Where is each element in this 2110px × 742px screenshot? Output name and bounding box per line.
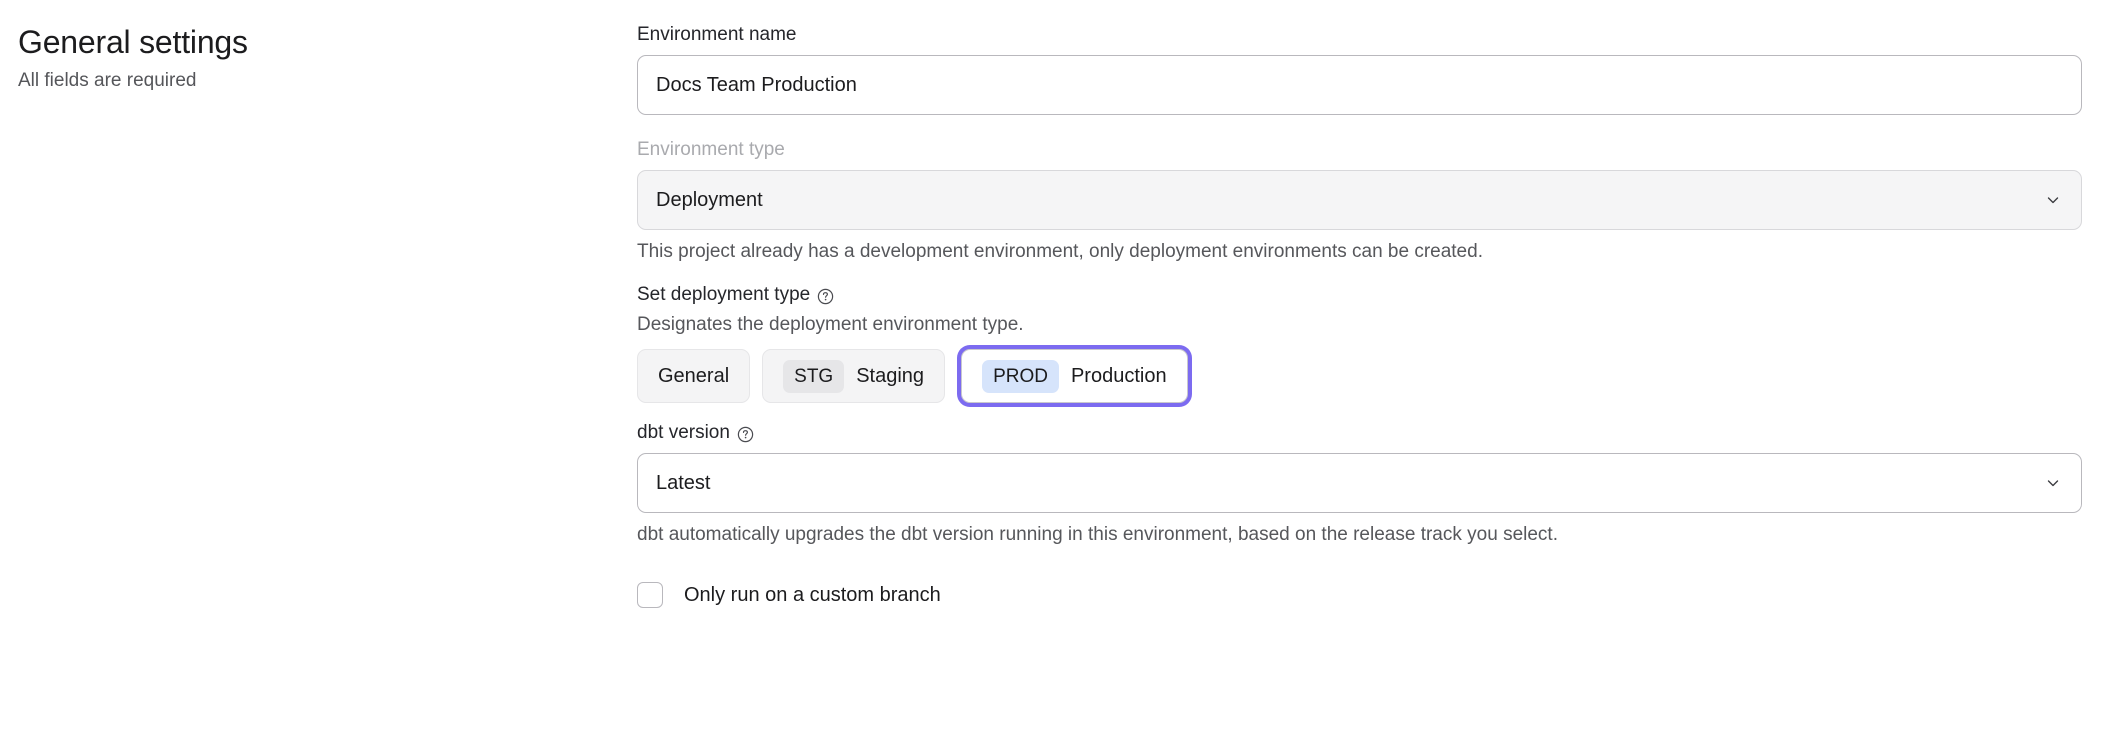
deployment-type-option-general[interactable]: General xyxy=(637,349,750,403)
deployment-type-option-staging[interactable]: STG Staging xyxy=(762,349,945,403)
general-settings-page: General settings All fields are required… xyxy=(0,0,2110,742)
page-subtitle: All fields are required xyxy=(18,68,578,94)
field-deployment-type: Set deployment type Designates the deplo… xyxy=(637,282,2082,403)
question-circle-icon[interactable] xyxy=(737,426,754,443)
chevron-down-icon xyxy=(2043,190,2063,210)
field-environment-type: Environment type Deployment This project… xyxy=(637,137,2082,265)
page-title: General settings xyxy=(18,22,578,62)
custom-branch-row: Only run on a custom branch xyxy=(637,582,2082,608)
environment-type-label: Environment type xyxy=(637,137,2082,163)
question-circle-icon[interactable] xyxy=(817,288,834,305)
prod-badge: PROD xyxy=(982,360,1059,393)
deployment-type-option-production[interactable]: PROD Production xyxy=(961,349,1188,403)
field-dbt-version: dbt version Latest dbt automatica xyxy=(637,420,2082,548)
field-environment-name: Environment name Docs Team Production xyxy=(637,22,2082,115)
environment-type-value: Deployment xyxy=(656,187,763,213)
settings-header: General settings All fields are required xyxy=(18,22,578,94)
environment-type-help-text: This project already has a development e… xyxy=(637,239,2082,265)
deployment-type-label-text: Set deployment type xyxy=(637,282,810,308)
deployment-type-option-general-label: General xyxy=(658,364,729,388)
deployment-type-description: Designates the deployment environment ty… xyxy=(637,312,2082,338)
settings-form: Environment name Docs Team Production En… xyxy=(637,22,2082,608)
chevron-down-icon xyxy=(2043,473,2063,493)
environment-type-select[interactable]: Deployment xyxy=(637,170,2082,230)
environment-name-value: Docs Team Production xyxy=(656,72,857,98)
environment-name-input[interactable]: Docs Team Production xyxy=(637,55,2082,115)
environment-name-label: Environment name xyxy=(637,22,2082,48)
deployment-type-option-staging-label: Staging xyxy=(856,364,924,388)
stg-badge: STG xyxy=(783,360,844,393)
dbt-version-help-text: dbt automatically upgrades the dbt versi… xyxy=(637,522,2082,548)
dbt-version-label-text: dbt version xyxy=(637,420,730,446)
deployment-type-label: Set deployment type xyxy=(637,282,2082,308)
custom-branch-checkbox[interactable] xyxy=(637,582,663,608)
dbt-version-select[interactable]: Latest xyxy=(637,453,2082,513)
custom-branch-label[interactable]: Only run on a custom branch xyxy=(684,582,941,608)
deployment-type-options: General STG Staging PROD Production xyxy=(637,349,2082,403)
deployment-type-option-production-label: Production xyxy=(1071,364,1167,388)
dbt-version-value: Latest xyxy=(656,470,710,496)
dbt-version-label: dbt version xyxy=(637,420,2082,446)
